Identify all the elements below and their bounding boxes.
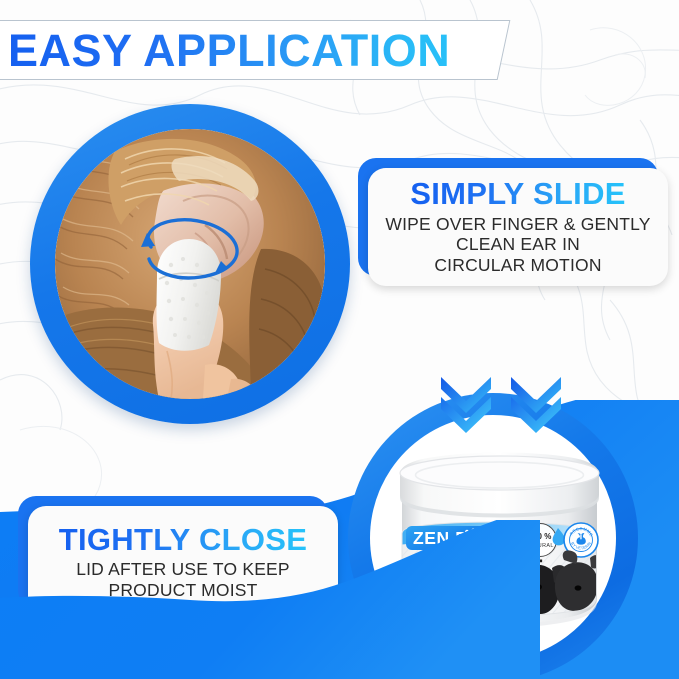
dog-ear-illustration: [55, 129, 325, 399]
step-card-simply-slide: SIMPLY SLIDE WIPE OVER FINGER & GENTLY C…: [358, 158, 658, 276]
card-title-simply-slide: SIMPLY SLIDE: [410, 178, 626, 211]
page-title: EASY APPLICATION: [8, 22, 508, 80]
card-body-simply-slide: WIPE OVER FINGER & GENTLY CLEAN EAR IN C…: [385, 214, 650, 276]
blue-wave-foreground: [0, 520, 679, 679]
card-surface: SIMPLY SLIDE WIPE OVER FINGER & GENTLY C…: [368, 168, 668, 286]
ear-cleaning-photo-circle: [30, 104, 350, 424]
infographic-canvas: EASY APPLICATION: [0, 0, 679, 679]
double-chevron-down-icons: [438, 375, 568, 435]
ear-cleaning-photo: [55, 129, 325, 399]
